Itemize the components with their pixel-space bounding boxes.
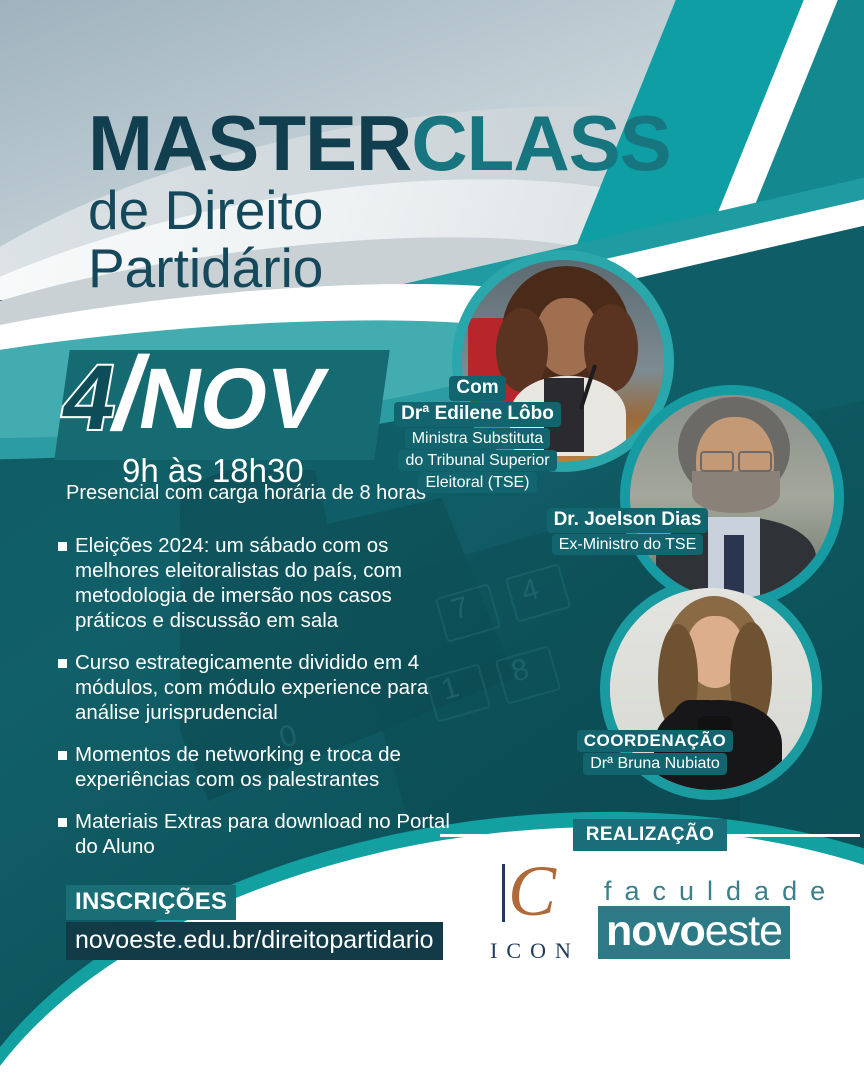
registration-url-link[interactable]: novoeste.edu.br/direitopartidario	[66, 922, 443, 960]
icon-logo-c-script: C	[508, 858, 556, 924]
list-item: Materiais Extras para download no Portal…	[58, 809, 458, 859]
title-class: CLASS	[411, 99, 670, 187]
bullet-square-icon	[58, 751, 67, 760]
speaker-3-name: Drª Bruna Nubiato	[583, 753, 727, 774]
speaker-label-2: Dr. Joelson Dias Ex-Ministro do TSE	[520, 508, 735, 556]
list-item-text: Materiais Extras para download no Portal…	[75, 809, 458, 859]
speaker-1-role-1: Ministra Substituta	[405, 428, 551, 449]
logo-icon: C ICON	[470, 858, 600, 964]
speaker-2-name: Dr. Joelson Dias	[547, 508, 709, 533]
date-month: NOV	[133, 362, 330, 438]
icon-logo-wordmark: ICON	[470, 938, 600, 964]
novoeste-logo-novo: novo	[606, 907, 705, 955]
realization-header: REALIZAÇÃO	[440, 820, 860, 850]
list-item-text: Curso estrategicamente dividido em 4 mód…	[75, 650, 458, 725]
novoeste-logo-faculdade: faculdade	[604, 878, 838, 905]
novoeste-logo-este: este	[705, 907, 782, 955]
speaker-3-prefix: COORDENAÇÃO	[577, 730, 733, 752]
speaker-1-name: Drª Edilene Lôbo	[394, 402, 561, 427]
title-line2: de Direito	[88, 184, 671, 238]
bullet-square-icon	[58, 818, 67, 827]
icon-logo-mark: C	[470, 858, 600, 930]
list-item-text: Momentos de networking e troca de experi…	[75, 742, 458, 792]
registration-block: INSCRIÇÕES novoeste.edu.br/direitopartid…	[66, 885, 443, 960]
list-item: Eleições 2024: um sábado com os melhores…	[58, 533, 458, 633]
poster: 7 4 1 8 0 MASTERCLASS de Direito Partidá…	[0, 0, 864, 1080]
title-master: MASTER	[88, 99, 411, 187]
bullet-square-icon	[58, 659, 67, 668]
date-block: 4 / NOV	[64, 352, 323, 437]
speaker-1-role-3: Eleitoral (TSE)	[418, 472, 536, 493]
icon-logo-i-stroke	[502, 864, 505, 922]
realization-rule-left	[440, 834, 573, 837]
registration-label: INSCRIÇÕES	[66, 885, 236, 920]
feature-list: Eleições 2024: um sábado com os melhores…	[58, 533, 458, 876]
speaker-1-role-2: do Tribunal Superior	[398, 450, 556, 471]
realization-label: REALIZAÇÃO	[573, 819, 728, 851]
speaker-1-prefix: Com	[449, 376, 505, 401]
list-item: Momentos de networking e troca de experi…	[58, 742, 458, 792]
speaker-2-role-1: Ex-Ministro do TSE	[552, 534, 704, 555]
realization-rule-right	[727, 834, 860, 837]
speaker-label-1: Com Drª Edilene Lôbo Ministra Substituta…	[370, 376, 585, 494]
list-item: Curso estrategicamente dividido em 4 mód…	[58, 650, 458, 725]
speaker-label-3: COORDENAÇÃO Drª Bruna Nubiato	[555, 730, 755, 776]
list-item-text: Eleições 2024: um sábado com os melhores…	[75, 533, 458, 633]
bullet-square-icon	[58, 542, 67, 551]
novoeste-logo-box: novoeste	[598, 906, 790, 959]
title-masterclass: MASTERCLASS	[88, 108, 671, 180]
logo-novoeste: faculdade novoeste	[598, 878, 838, 959]
speaker-photo-2	[630, 395, 834, 599]
